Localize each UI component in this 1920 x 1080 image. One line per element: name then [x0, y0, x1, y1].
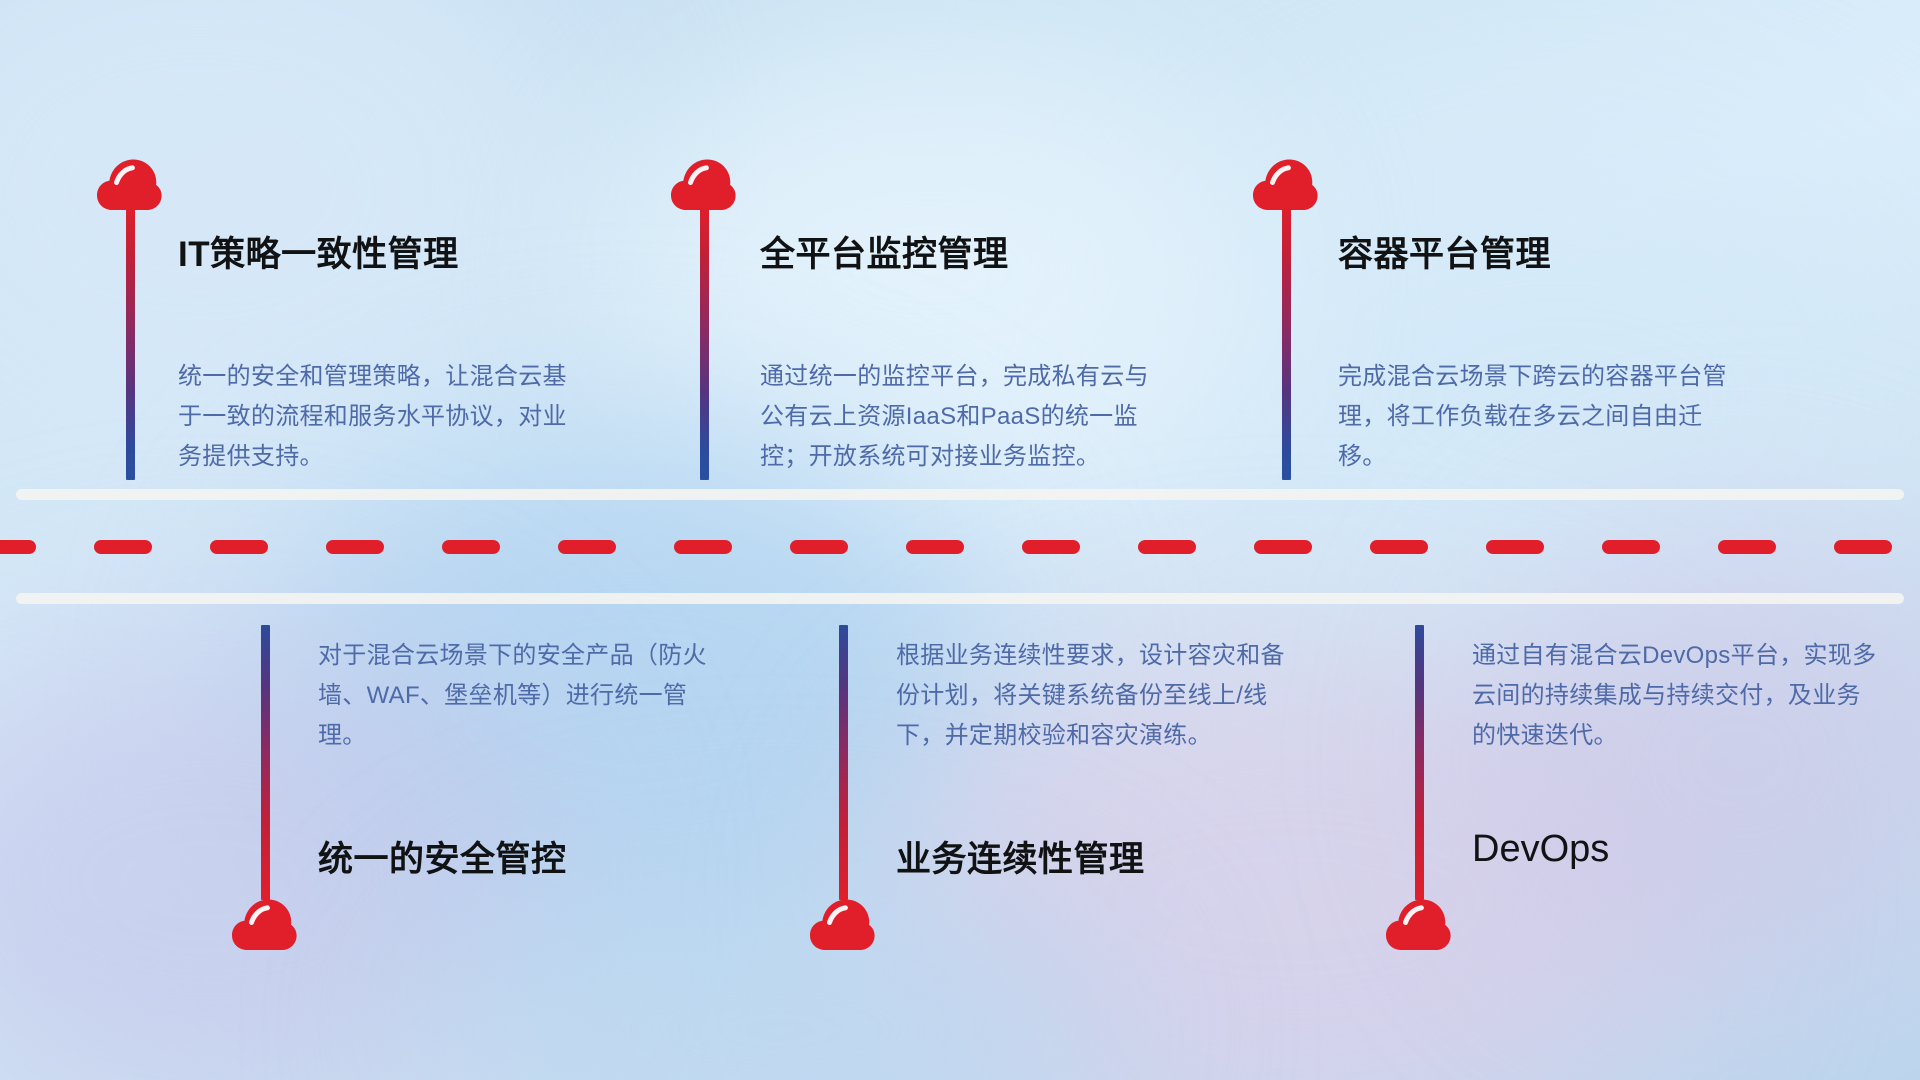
item-heading: IT策略一致性管理	[178, 226, 459, 277]
item-heading: 全平台监控管理	[760, 226, 1009, 277]
item-description: 通过统一的监控平台，完成私有云与公有云上资源IaaS和PaaS的统一监控；开放系…	[760, 357, 1170, 477]
road-dash-segment	[790, 540, 848, 554]
cloud-icon	[670, 158, 736, 212]
cloud-icon	[1252, 158, 1318, 212]
road-dash-segment	[1022, 540, 1080, 554]
timeline-stem	[1415, 625, 1424, 900]
road-dash-segment	[94, 540, 152, 554]
cloud-icon	[231, 898, 297, 952]
road-dash-segment	[1138, 540, 1196, 554]
cloud-icon	[96, 158, 162, 212]
timeline-stem	[261, 625, 270, 900]
road-edge-bottom	[16, 593, 1904, 604]
road-dash-segment	[1718, 540, 1776, 554]
background-blob	[430, 880, 1130, 1080]
road-dash-segment	[0, 540, 36, 554]
background-blob	[1480, 520, 1920, 1000]
item-heading: 统一的安全管控	[318, 831, 567, 882]
item-description: 统一的安全和管理策略，让混合云基于一致的流程和服务水平协议，对业务提供支持。	[178, 357, 568, 477]
road-dash-segment	[674, 540, 732, 554]
road-edge-top	[16, 489, 1904, 500]
item-heading: 容器平台管理	[1338, 226, 1551, 277]
timeline-stem	[126, 205, 135, 480]
road-dash-segment	[326, 540, 384, 554]
road-dash-segment	[1486, 540, 1544, 554]
timeline-stem	[700, 205, 709, 480]
road-dash-segment	[442, 540, 500, 554]
item-description: 对于混合云场景下的安全产品（防火墙、WAF、堡垒机等）进行统一管理。	[318, 636, 728, 756]
item-heading: DevOps	[1472, 828, 1609, 871]
item-description: 根据业务连续性要求，设计容灾和备份计划，将关键系统备份至线上/线下，并定期校验和…	[896, 636, 1306, 756]
road-dash-segment	[1602, 540, 1660, 554]
item-description: 完成混合云场景下跨云的容器平台管理，将工作负载在多云之间自由迁移。	[1338, 357, 1748, 477]
cloud-icon	[1385, 898, 1451, 952]
road-dash-segment	[1254, 540, 1312, 554]
infographic-canvas: IT策略一致性管理 统一的安全和管理策略，让混合云基于一致的流程和服务水平协议，…	[0, 0, 1920, 1080]
cloud-icon	[809, 898, 875, 952]
timeline-stem	[839, 625, 848, 900]
road-center-dashes	[0, 540, 1920, 554]
item-heading: 业务连续性管理	[896, 831, 1145, 882]
road-dash-segment	[210, 540, 268, 554]
item-description: 通过自有混合云DevOps平台，实现多云间的持续集成与持续交付，及业务的快速迭代…	[1472, 636, 1882, 756]
road-dash-segment	[1834, 540, 1892, 554]
timeline-stem	[1282, 205, 1291, 480]
road-dash-segment	[558, 540, 616, 554]
road-dash-segment	[906, 540, 964, 554]
road-dash-segment	[1370, 540, 1428, 554]
